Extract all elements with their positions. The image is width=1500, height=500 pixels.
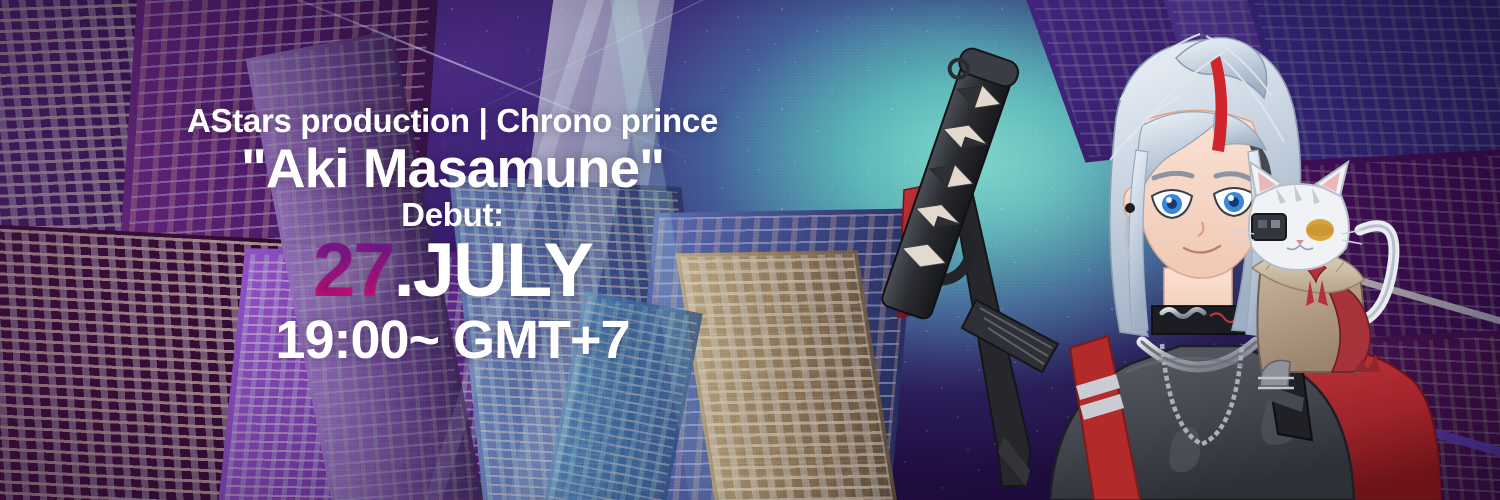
katana-sword bbox=[880, 43, 1058, 486]
character-illustration bbox=[880, 0, 1500, 500]
vtuber-debut-banner: AStars production | Chrono prince "Aki M… bbox=[0, 0, 1500, 500]
cat-eyepatch-device bbox=[1252, 214, 1286, 240]
character-svg bbox=[880, 0, 1500, 500]
